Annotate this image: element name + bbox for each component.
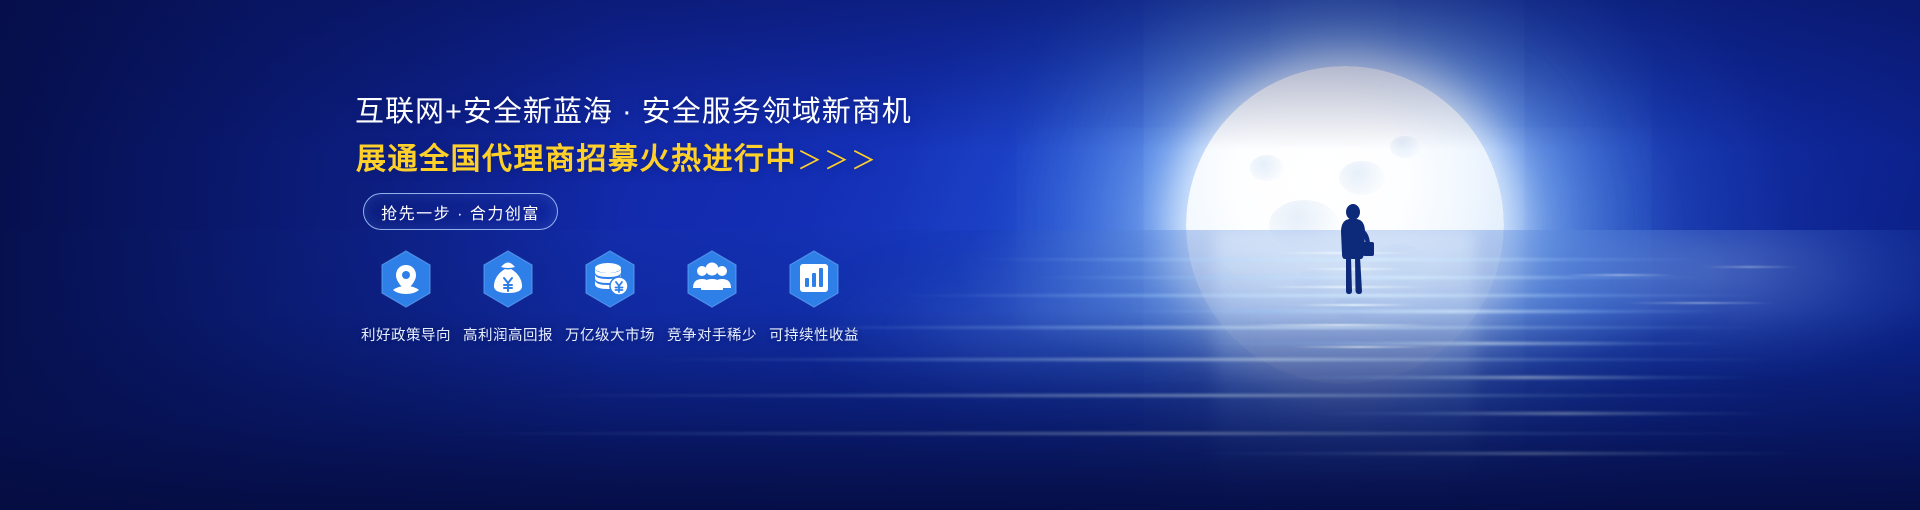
banner-content: 互联网+安全新蓝海 · 安全服务领域新商机 展通全国代理商招募火热进行中＞＞＞ …: [0, 0, 1000, 510]
money-bag-yuan-icon: [482, 250, 534, 308]
feature-label: 利好政策导向: [361, 324, 451, 345]
bar-chart-growth-icon: [788, 250, 840, 308]
cta-pill-label: 抢先一步 · 合力创富: [381, 200, 540, 224]
feature-label: 可持续性收益: [769, 324, 859, 345]
feature-item-profit[interactable]: 高利润高回报: [457, 250, 559, 345]
coin-stack-yuan-icon: [584, 250, 636, 308]
banner-subheadline: 展通全国代理商招募火热进行中＞＞＞: [356, 145, 878, 175]
banner-headline: 互联网+安全新蓝海 · 安全服务领域新商机: [355, 98, 912, 127]
people-group-icon: [686, 250, 738, 308]
feature-item-sustainable[interactable]: 可持续性收益: [763, 250, 865, 345]
feature-item-competition[interactable]: 竞争对手稀少: [661, 250, 763, 345]
location-pin-icon: [380, 250, 432, 308]
banner-subheadline-text: 展通全国代理商招募火热进行中: [356, 143, 797, 176]
sea-mist-right: [1480, 230, 1920, 370]
feature-label: 万亿级大市场: [565, 324, 655, 345]
feature-label: 高利润高回报: [463, 324, 553, 345]
promo-banner: 互联网+安全新蓝海 · 安全服务领域新商机 展通全国代理商招募火热进行中＞＞＞ …: [0, 0, 1920, 510]
feature-item-market[interactable]: 万亿级大市场: [559, 250, 661, 345]
walking-person-silhouette: [1330, 203, 1376, 295]
feature-label: 竞争对手稀少: [667, 324, 757, 345]
cta-pill-button[interactable]: 抢先一步 · 合力创富: [363, 193, 558, 230]
banner-subheadline-arrows: ＞＞＞: [797, 147, 878, 175]
feature-item-policy[interactable]: 利好政策导向: [355, 250, 457, 345]
feature-list: 利好政策导向: [355, 250, 865, 345]
